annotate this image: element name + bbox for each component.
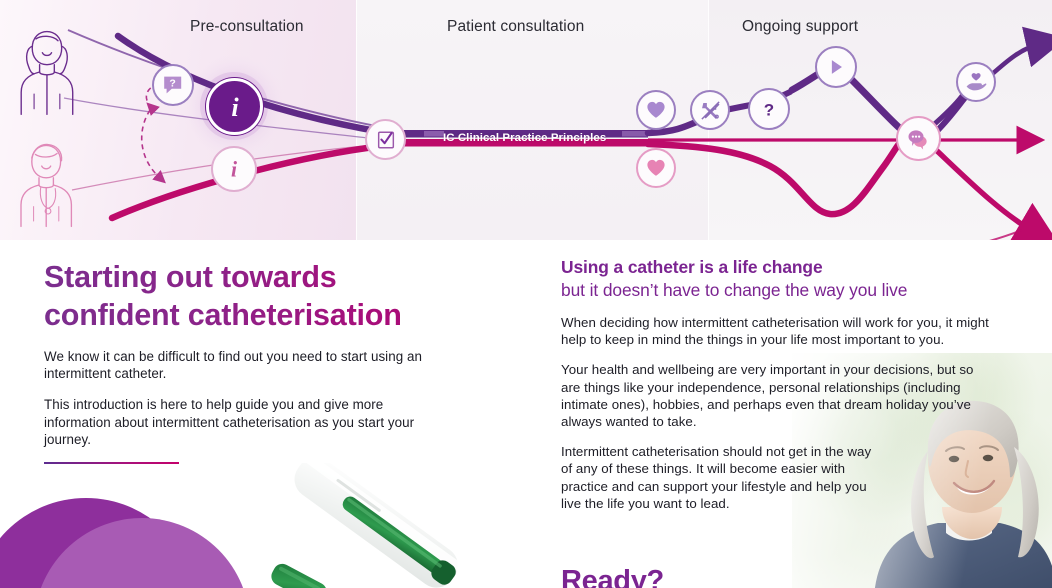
right-subheading-bold: Using a catheter is a life change (561, 256, 1013, 279)
play-icon[interactable] (815, 46, 857, 88)
left-paragraph-1: We know it can be difficult to find out … (44, 348, 436, 382)
section-divider (44, 462, 179, 464)
hand-heart-icon[interactable] (956, 62, 996, 102)
info-outline-icon[interactable]: i (211, 146, 257, 192)
heart-pink-icon[interactable] (636, 148, 676, 188)
heart-purple-icon[interactable] (636, 90, 676, 130)
page-title-line1: Starting out towards (44, 258, 524, 296)
patient-figure (21, 32, 73, 115)
svg-text:i: i (231, 92, 239, 121)
info-filled-icon[interactable]: i (206, 78, 263, 135)
journey-paths (0, 0, 1052, 240)
left-paragraph-2: This introduction is here to help guide … (44, 396, 444, 448)
principles-label: IC Clinical Practice Principles (443, 132, 606, 144)
patient-journey-banner: Pre-consultation Patient consultation On… (0, 0, 1052, 240)
right-paragraph-1: When deciding how intermittent catheteri… (561, 314, 993, 348)
left-column: Starting out towards confident catheteri… (44, 258, 524, 464)
page-root: Pre-consultation Patient consultation On… (0, 0, 1052, 588)
ready-heading: Ready? (561, 565, 664, 588)
question-mark-icon[interactable]: ? (748, 88, 790, 130)
question-speech-bubble-icon[interactable]: ? (152, 64, 194, 106)
clinician-figure (21, 144, 71, 226)
right-paragraph-3: Intermittent catheterisation should not … (561, 443, 881, 512)
purple-circle-decoration (0, 498, 290, 588)
tools-icon[interactable] (690, 90, 730, 130)
right-paragraph-2: Your health and wellbeing are very impor… (561, 361, 995, 430)
right-subheading: Using a catheter is a life change but it… (561, 256, 1013, 302)
svg-text:i: i (231, 158, 237, 182)
page-title: Starting out towards confident catheteri… (44, 258, 524, 334)
right-subheading-regular: but it doesn’t have to change the way yo… (561, 279, 1013, 302)
chat-bubbles-icon[interactable] (896, 116, 941, 161)
checklist-icon[interactable] (365, 119, 406, 160)
right-column: Using a catheter is a life change but it… (561, 256, 1013, 525)
page-title-line2: confident catheterisation (44, 296, 524, 334)
svg-text:?: ? (764, 101, 774, 120)
catheter-product-photo (262, 463, 497, 588)
svg-text:?: ? (169, 77, 175, 89)
